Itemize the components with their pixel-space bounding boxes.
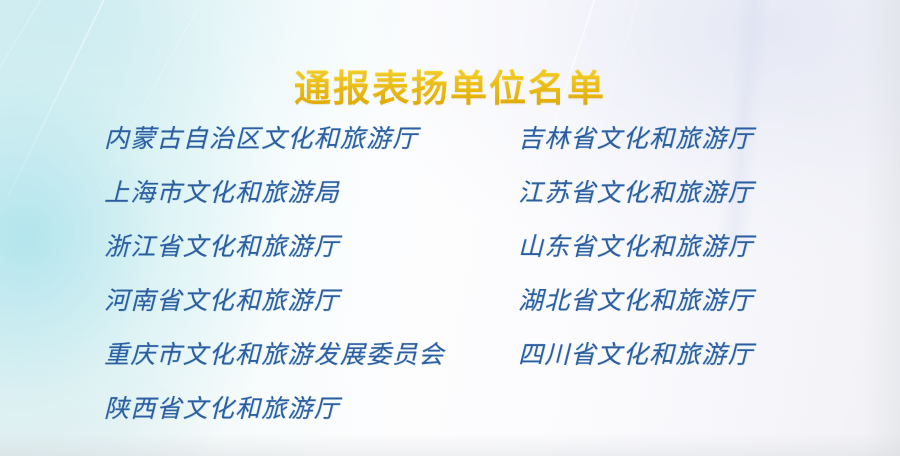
list-item: 四川省文化和旅游厅 <box>518 329 848 383</box>
slide-title: 通报表扬单位名单 <box>0 58 900 112</box>
slide-canvas: 通报表扬单位名单 内蒙古自治区文化和旅游厅 上海市文化和旅游局 浙江省文化和旅游… <box>0 0 900 456</box>
list-item: 陕西省文化和旅游厅 <box>104 383 504 437</box>
unit-list-column-right: 吉林省文化和旅游厅 江苏省文化和旅游厅 山东省文化和旅游厅 湖北省文化和旅游厅 … <box>518 113 848 437</box>
list-item: 江苏省文化和旅游厅 <box>518 167 848 221</box>
list-item: 湖北省文化和旅游厅 <box>518 275 848 329</box>
list-item: 内蒙古自治区文化和旅游厅 <box>104 113 504 167</box>
list-item: 吉林省文化和旅游厅 <box>518 113 848 167</box>
list-item: 浙江省文化和旅游厅 <box>104 221 504 275</box>
list-item: 上海市文化和旅游局 <box>104 167 504 221</box>
unit-list: 内蒙古自治区文化和旅游厅 上海市文化和旅游局 浙江省文化和旅游厅 河南省文化和旅… <box>0 113 900 437</box>
unit-list-column-left: 内蒙古自治区文化和旅游厅 上海市文化和旅游局 浙江省文化和旅游厅 河南省文化和旅… <box>104 113 504 437</box>
list-item: 山东省文化和旅游厅 <box>518 221 848 275</box>
list-item: 重庆市文化和旅游发展委员会 <box>104 329 504 383</box>
list-item: 河南省文化和旅游厅 <box>104 275 504 329</box>
